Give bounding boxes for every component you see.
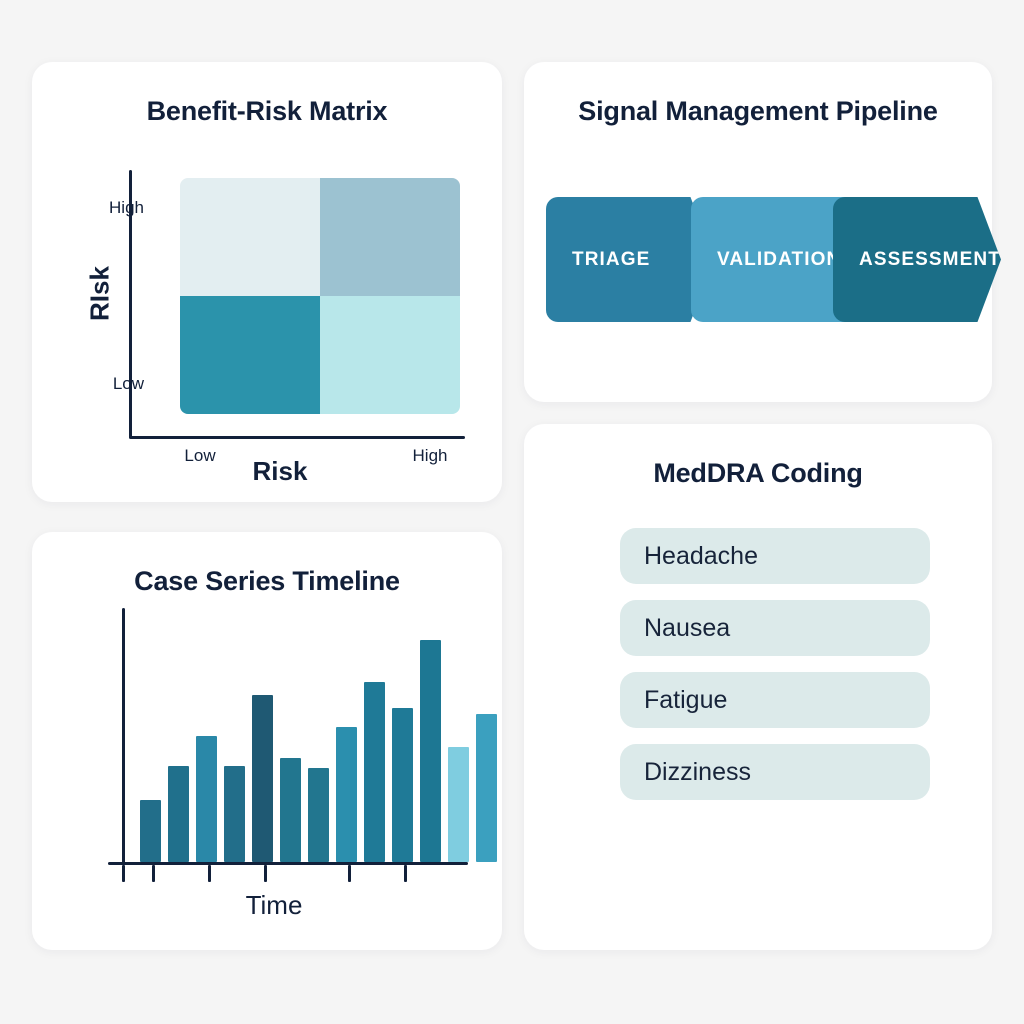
benefit-risk-matrix-card: Benefit-Risk Matrix High Low RIsk Low Hi…: [32, 62, 502, 502]
bar-chart-x-tick: [264, 865, 267, 882]
matrix-quadrant-low-risk-high-benefit[interactable]: [180, 178, 320, 296]
pipeline-stage-label: ASSESSMENT: [859, 249, 1001, 271]
bar-chart-x-tick: [404, 865, 407, 882]
pipeline-stage-label: TRIAGE: [572, 249, 650, 271]
matrix-quadrant-high-risk-high-benefit[interactable]: [320, 178, 460, 296]
bar-chart-bar[interactable]: [448, 747, 469, 862]
matrix-y-tick-high: High: [96, 198, 144, 218]
meddra-term-pill[interactable]: Headache: [620, 528, 930, 584]
bar-chart-bar[interactable]: [168, 766, 189, 862]
dashboard-page: Benefit-Risk Matrix High Low RIsk Low Hi…: [0, 0, 1024, 1024]
bar-chart-bar[interactable]: [252, 695, 273, 862]
matrix-quadrant-high-risk-low-benefit[interactable]: [320, 296, 460, 414]
bar-chart-x-tick: [208, 865, 211, 882]
page-title-case-series-timeline: Case Series Timeline: [32, 566, 502, 597]
pipeline-stage-assessment[interactable]: ASSESSMENT: [833, 197, 1001, 322]
case-series-timeline-card: Case Series Timeline Time: [32, 532, 502, 950]
matrix-x-axis-line: [129, 436, 465, 439]
bar-chart-x-axis-title: Time: [174, 890, 374, 921]
bar-chart-bar[interactable]: [392, 708, 413, 862]
pipeline-stage-triage[interactable]: TRIAGE: [546, 197, 714, 322]
matrix-y-axis-title: RIsk: [85, 234, 116, 354]
bar-chart-bar[interactable]: [140, 800, 161, 862]
meddra-coding-card: MedDRA Coding HeadacheNauseaFatigueDizzi…: [524, 424, 992, 950]
bar-chart-bar[interactable]: [224, 766, 245, 862]
matrix-x-tick-high: High: [390, 446, 470, 466]
bar-chart-x-tick: [348, 865, 351, 882]
meddra-term-pill[interactable]: Nausea: [620, 600, 930, 656]
bar-chart-y-axis-line: [122, 608, 125, 864]
bar-chart-bar[interactable]: [280, 758, 301, 862]
bar-chart-x-tick: [122, 865, 125, 882]
pipeline-stage-label: VALIDATION: [717, 249, 841, 271]
matrix-y-tick-low: Low: [96, 374, 144, 394]
bar-chart-bar[interactable]: [308, 768, 329, 862]
page-title-signal-management-pipeline: Signal Management Pipeline: [524, 96, 992, 127]
matrix-quadrant-low-risk-low-benefit[interactable]: [180, 296, 320, 414]
matrix-quadrant-grid: [180, 178, 460, 414]
bar-chart-bar[interactable]: [196, 736, 217, 862]
meddra-term-pill[interactable]: Fatigue: [620, 672, 930, 728]
bar-chart-x-tick: [152, 865, 155, 882]
signal-management-pipeline-card: Signal Management Pipeline TRIAGEVALIDAT…: [524, 62, 992, 402]
bar-chart-bar[interactable]: [420, 640, 441, 862]
bar-chart-plot-area: Time: [78, 608, 470, 908]
page-title-meddra-coding: MedDRA Coding: [524, 458, 992, 489]
bar-chart-bar[interactable]: [364, 682, 385, 862]
page-title-benefit-risk-matrix: Benefit-Risk Matrix: [32, 96, 502, 127]
bar-chart-bar[interactable]: [476, 714, 497, 862]
matrix-plot-area: High Low RIsk Low High Risk: [102, 170, 467, 470]
pipeline-stage-row: TRIAGEVALIDATIONASSESSMENT: [546, 197, 970, 322]
bar-chart-bar[interactable]: [336, 727, 357, 862]
meddra-term-list: HeadacheNauseaFatigueDizziness: [620, 528, 930, 816]
bar-chart-x-axis-line: [108, 862, 468, 865]
meddra-term-pill[interactable]: Dizziness: [620, 744, 930, 800]
matrix-x-axis-title: Risk: [220, 456, 340, 487]
